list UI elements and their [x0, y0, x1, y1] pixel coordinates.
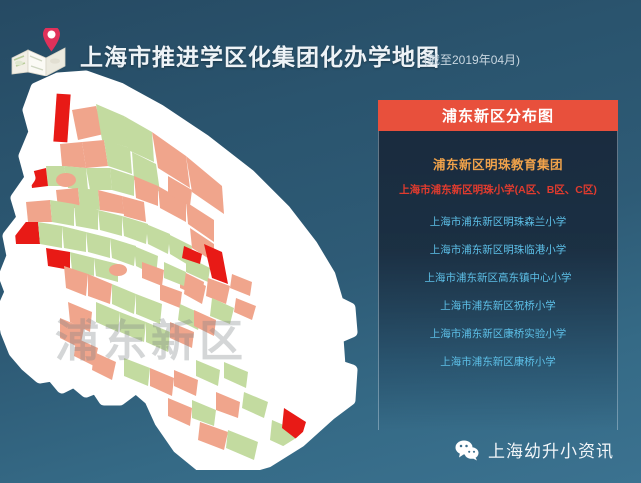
panel-header-title: 浦东新区分布图 [378, 100, 618, 131]
map-svg [0, 70, 400, 470]
district-list-panel: 浦东新区分布图 浦东新区明珠教育集团 上海市浦东新区明珠小学(A区、B区、C区)… [378, 100, 618, 430]
footer-brand: 上海幼升小资讯 [455, 437, 614, 462]
folded-map-pin-icon [10, 28, 72, 76]
list-item[interactable]: 上海市浦东新区明珠森兰小学 [378, 214, 618, 230]
screenshot-root: 上海市推进学区化集团化办学地图 (截至2019年04月) [0, 0, 641, 483]
footer-brand-label: 上海幼升小资讯 [488, 437, 614, 462]
list-item[interactable]: 上海市浦东新区明珠临港小学 [378, 242, 618, 258]
list-item[interactable]: 上海市浦东新区康桥小学 [378, 354, 618, 370]
list-item[interactable]: 上海市浦东新区明珠小学(A区、B区、C区) [378, 183, 618, 198]
list-item[interactable]: 上海市浦东新区高东镇中心小学 [378, 270, 618, 286]
page-header: 上海市推进学区化集团化办学地图 (截至2019年04月) [0, 0, 641, 92]
list-item[interactable]: 上海市浦东新区祝桥小学 [378, 298, 618, 314]
pudong-district-map[interactable] [0, 70, 400, 470]
education-group-title: 浦东新区明珠教育集团 [378, 154, 618, 173]
list-item[interactable]: 上海市浦东新区康桥实验小学 [378, 326, 618, 342]
page-title-subtitle: (截至2019年04月) [424, 51, 520, 68]
page-title: 上海市推进学区化集团化办学地图 [80, 38, 440, 72]
school-group-list: 浦东新区明珠教育集团 上海市浦东新区明珠小学(A区、B区、C区) 上海市浦东新区… [378, 140, 618, 382]
wechat-icon [455, 439, 479, 461]
